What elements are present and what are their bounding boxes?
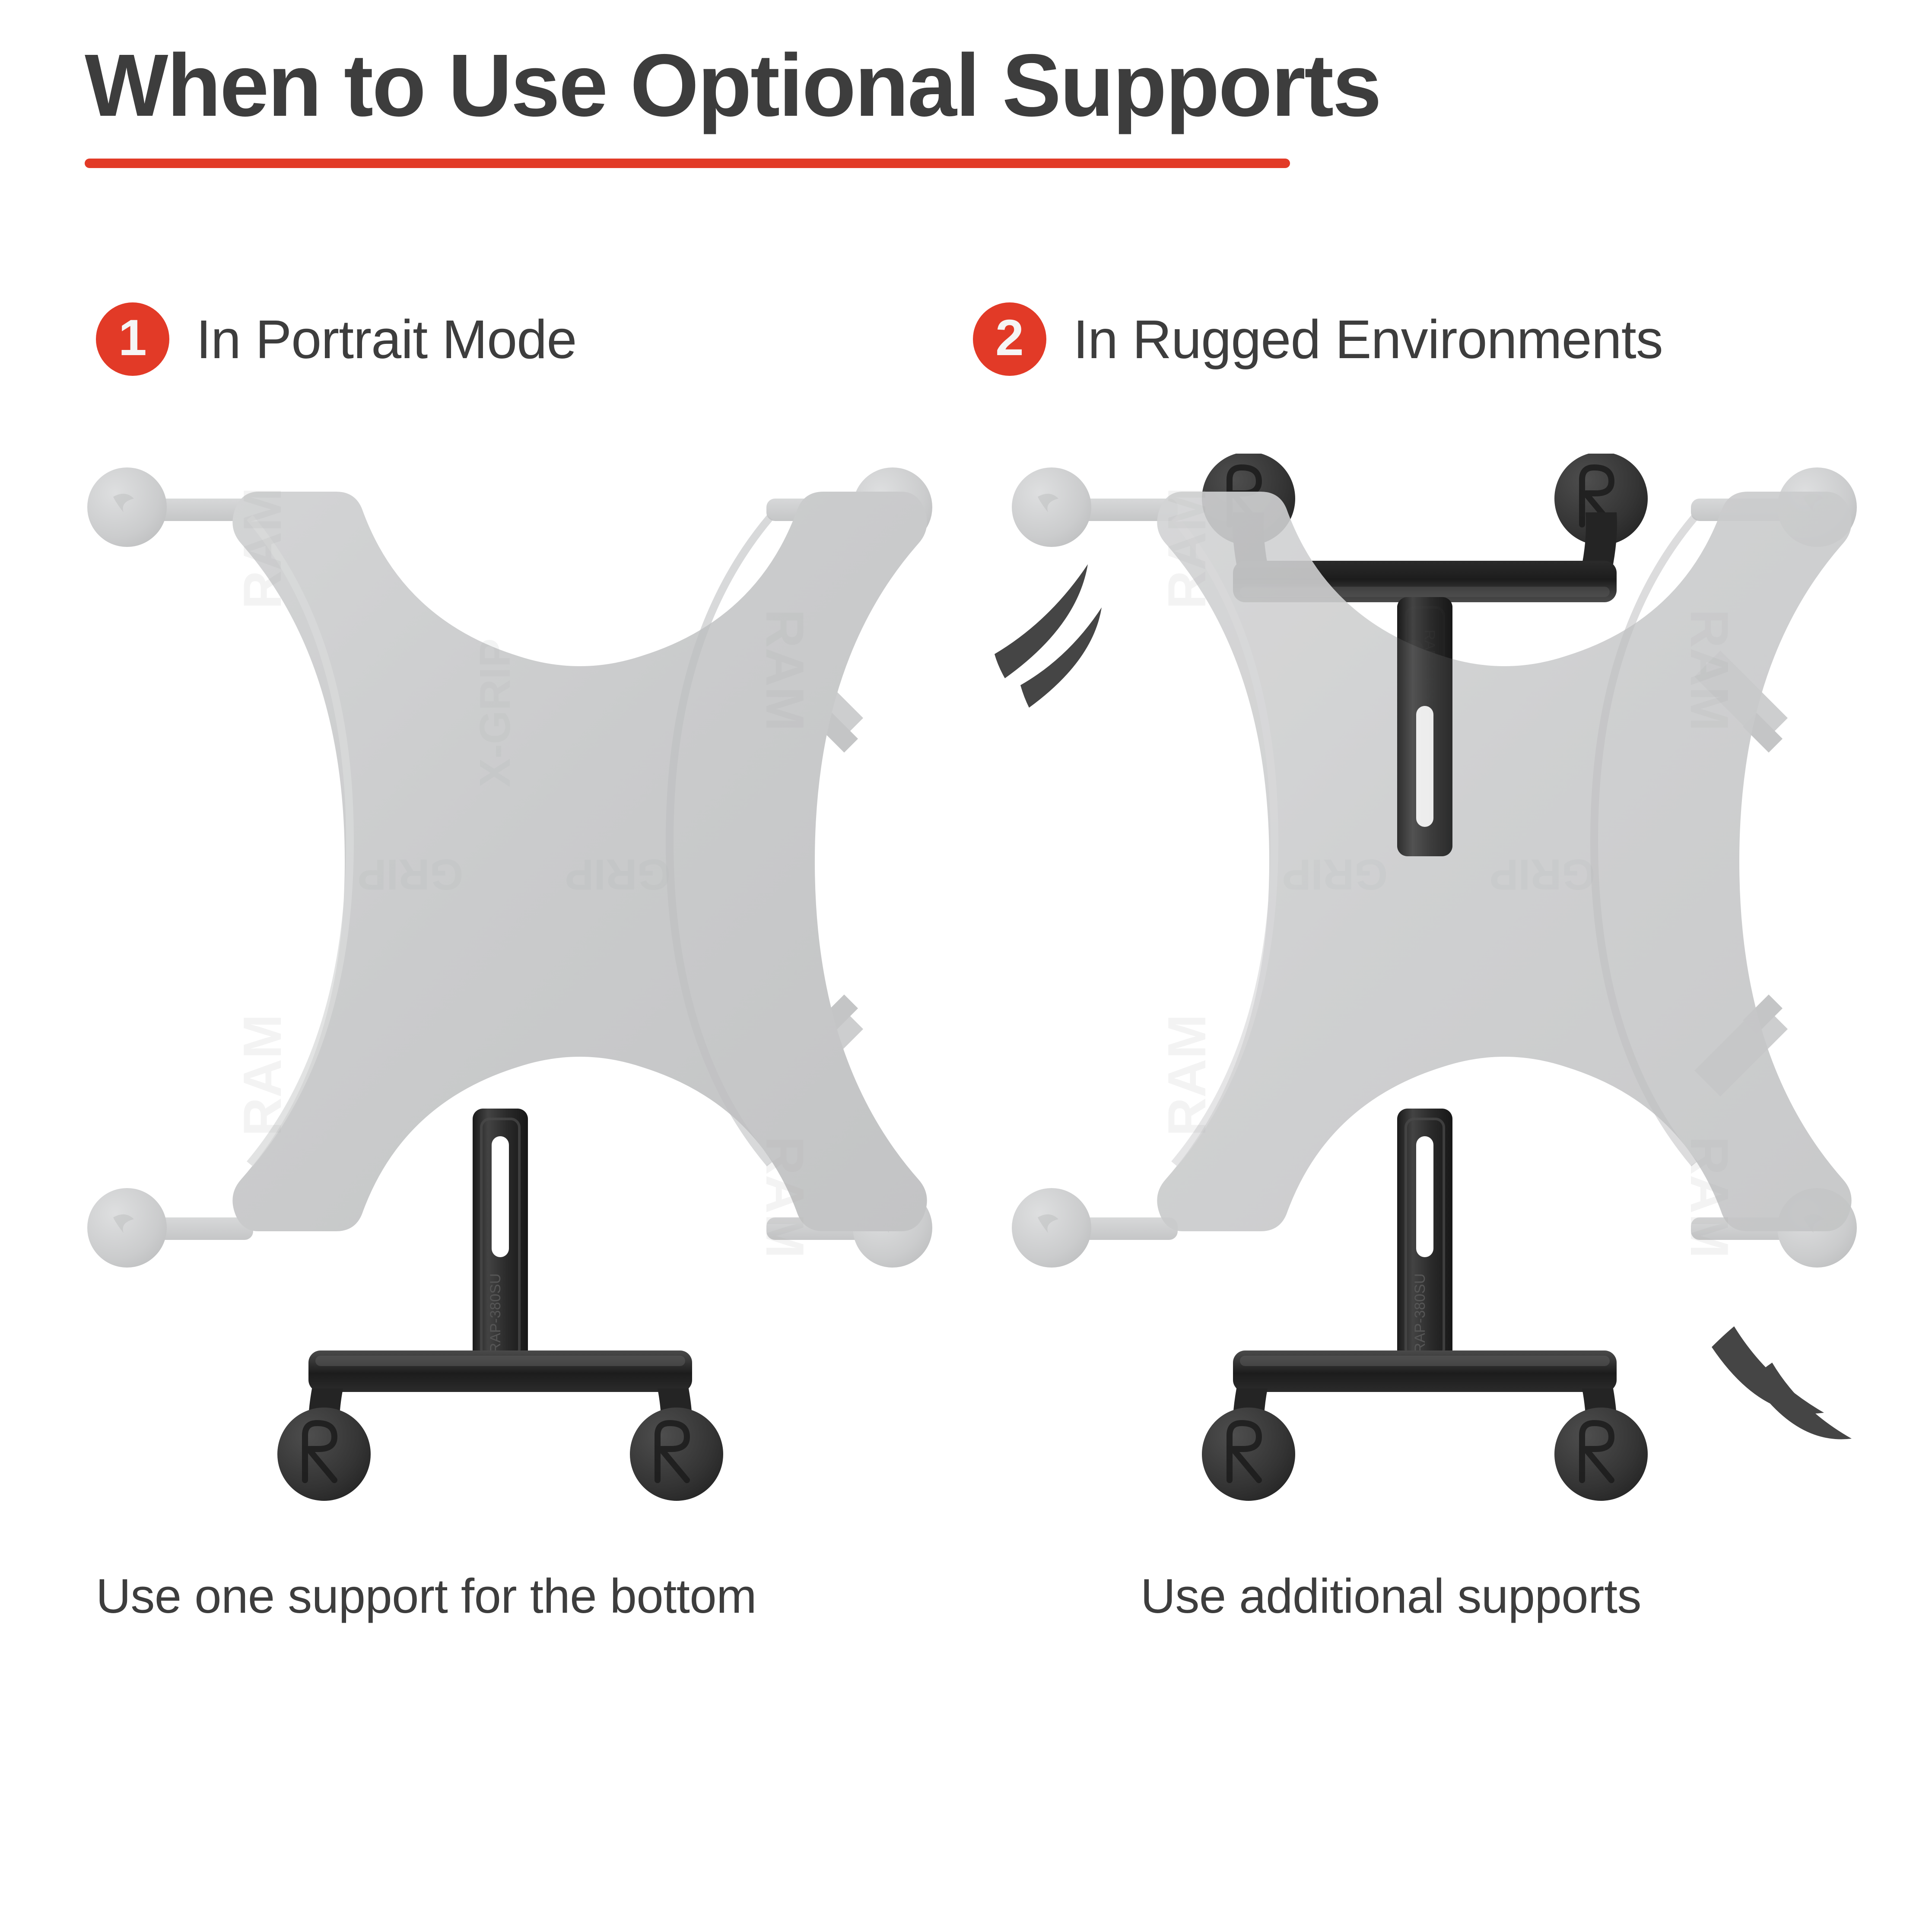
support-part-number: RAP-380SU (487, 1273, 504, 1353)
support-ball-pad-left (277, 1408, 371, 1501)
page-header: When to Use Optional Supports (85, 39, 1381, 168)
svg-text:RAM: RAM (755, 609, 814, 731)
panel-heading-label-1: In Portrait Mode (196, 308, 576, 371)
support-ball-pad-bottom-right (1554, 1408, 1648, 1501)
panel-heading-label-2: In Rugged Environments (1073, 308, 1663, 371)
support-ball-pad-bottom-left (1202, 1408, 1295, 1501)
panel-heading-1: 1 In Portrait Mode (96, 302, 576, 376)
panel-caption-2: Use additional supports (1141, 1568, 1641, 1624)
panel-heading-2: 2 In Rugged Environments (973, 302, 1663, 376)
grip-arm-upper-left (1012, 467, 1178, 547)
support-crossbar-bottom (1233, 1350, 1617, 1440)
support-crossbar (308, 1350, 693, 1440)
title-underline-rule (85, 159, 1290, 168)
svg-text:GRIP: GRIP (358, 850, 463, 899)
step-badge-2: 2 (973, 302, 1046, 376)
support-ball-pad-right (630, 1408, 723, 1501)
svg-text:RAM: RAM (1157, 487, 1217, 609)
support-part-number-bottom: RAP-380SU (1412, 1273, 1428, 1353)
support-stem-top-overlay (1397, 597, 1452, 856)
svg-text:RAM: RAM (1157, 1014, 1217, 1136)
svg-text:GRIP: GRIP (1282, 850, 1388, 899)
svg-text:RAM: RAM (233, 1014, 292, 1136)
grip-arm-lower-left (87, 1188, 253, 1268)
svg-text:RAM: RAM (755, 1136, 814, 1258)
svg-text:GRIP: GRIP (565, 850, 670, 899)
support-stem: RAP-380SU (473, 1109, 528, 1368)
svg-text:RAM: RAM (1679, 1136, 1739, 1258)
panel-caption-1: Use one support for the bottom (96, 1568, 756, 1624)
vibration-marks-lower-right (1712, 1326, 1852, 1439)
support-stem-bottom: RAP-380SU (1397, 1109, 1452, 1368)
svg-text:X-GRIP: X-GRIP (471, 639, 519, 787)
svg-text:RAM: RAM (233, 487, 292, 609)
grip-arm-upper-left (87, 467, 253, 547)
step-badge-1: 1 (96, 302, 169, 376)
illustration-panel-2: RAP-380SU (989, 454, 1879, 1512)
illustration-panel-1: RAM RAM RAM RAM X-GRIP GRIP GRIP RAP-380… (65, 454, 955, 1512)
svg-text:GRIP: GRIP (1490, 850, 1595, 899)
vibration-marks-upper-left (995, 564, 1102, 708)
svg-text:RAM: RAM (1679, 609, 1739, 731)
page-title: When to Use Optional Supports (85, 39, 1381, 132)
grip-arm-lower-left (1012, 1188, 1178, 1268)
